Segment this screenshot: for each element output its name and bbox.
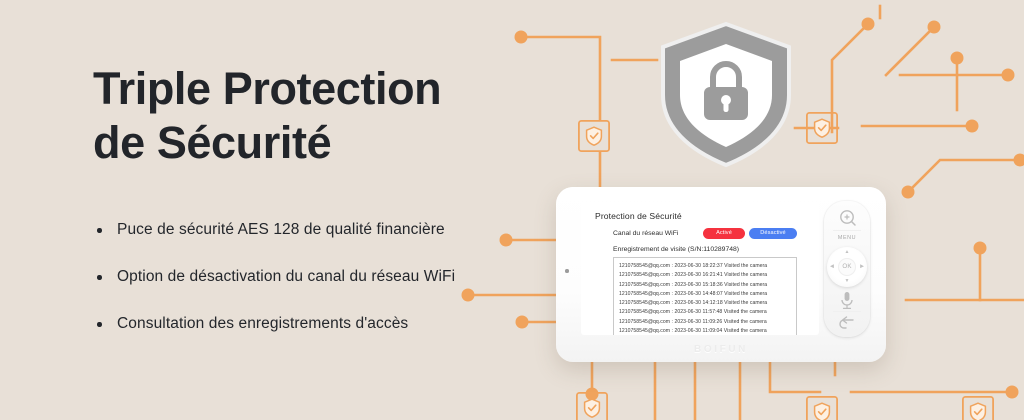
list-item: 1210758545@qq.com : 2023-06-30 16:21:41 … (619, 271, 791, 280)
list-item: 1210758545@qq.com : 2023-06-30 15:18:36 … (619, 281, 791, 290)
shield-check-badge (807, 397, 837, 420)
wifi-channel-label: Canal du réseau WiFi (613, 230, 678, 237)
shield-lock-icon (663, 24, 789, 165)
shield-check-badge (963, 397, 993, 420)
dpad-control[interactable]: ▲ ▼ ◀ ▶ OK (827, 247, 867, 287)
feature-list: Puce de sécurité AES 128 de qualité fina… (93, 221, 513, 333)
headline-line-1: Triple Protection (93, 63, 441, 114)
screen-title: Protection de Sécurité (595, 211, 682, 221)
wifi-channel-row: Canal du réseau WiFi Activé Désactivé (613, 228, 811, 243)
device-brand-label: BOIFUN (556, 344, 886, 355)
back-arrow-icon (824, 311, 870, 335)
list-item: 1210758545@qq.com : 2023-06-30 14:12:18 … (619, 299, 791, 308)
magnifier-plus-icon (824, 206, 870, 230)
list-item-label: Consultation des enregistrements d'accès (117, 315, 408, 332)
chevron-up-icon[interactable]: ▲ (845, 250, 850, 255)
list-item: Option de désactivation du canal du rése… (93, 268, 513, 286)
list-item: 1210758545@qq.com : 2023-06-30 14:48:07 … (619, 290, 791, 299)
power-led-icon (565, 269, 569, 273)
shield-check-badge (579, 121, 609, 151)
chevron-left-icon[interactable]: ◀ (830, 265, 834, 270)
list-item: Consultation des enregistrements d'accès (93, 315, 513, 333)
page-title: Triple Protection de Sécurité (93, 62, 513, 169)
bullet-dot-icon (97, 322, 102, 327)
headline-line-2: de Sécurité (93, 117, 331, 168)
bullet-dot-icon (97, 228, 102, 233)
back-button[interactable] (824, 311, 870, 335)
hero-copy: Triple Protection de Sécurité Puce de sé… (93, 62, 513, 333)
visit-log-label: Enregistrement de visite (S/N:110289748) (613, 246, 811, 253)
remote-control: MENU ▲ ▼ ◀ ▶ OK (824, 201, 870, 337)
wifi-disable-button[interactable]: Désactivé (749, 228, 797, 239)
ok-button[interactable]: OK (838, 258, 856, 276)
microphone-icon (824, 289, 870, 311)
list-item-label: Puce de sécurité AES 128 de qualité fina… (117, 221, 445, 238)
wifi-enable-button[interactable]: Activé (703, 228, 745, 239)
list-item: 1210758545@qq.com : 2023-06-30 11:09:04 … (619, 327, 791, 335)
visit-log-list[interactable]: 1210758545@qq.com : 2023-06-30 18:22:37 … (613, 257, 797, 335)
list-item-label: Option de désactivation du canal du rése… (117, 268, 455, 285)
security-panel: Canal du réseau WiFi Activé Désactivé En… (595, 228, 811, 329)
zoom-button[interactable] (824, 206, 870, 230)
chevron-right-icon[interactable]: ▶ (860, 265, 864, 270)
monitor-device: Protection de Sécurité Canal du réseau W… (556, 187, 886, 362)
bullet-dot-icon (97, 275, 102, 280)
list-item: Puce de sécurité AES 128 de qualité fina… (93, 221, 513, 239)
list-item: 1210758545@qq.com : 2023-06-30 11:09:26 … (619, 318, 791, 327)
list-item: 1210758545@qq.com : 2023-06-30 11:57:48 … (619, 308, 791, 317)
chevron-down-icon[interactable]: ▼ (845, 279, 850, 284)
menu-button[interactable]: MENU (824, 230, 870, 246)
promo-banner: Triple Protection de Sécurité Puce de sé… (0, 0, 1024, 420)
microphone-button[interactable] (824, 289, 870, 311)
list-item: 1210758545@qq.com : 2023-06-30 18:22:37 … (619, 262, 791, 271)
device-screen: Protection de Sécurité Canal du réseau W… (581, 202, 819, 335)
